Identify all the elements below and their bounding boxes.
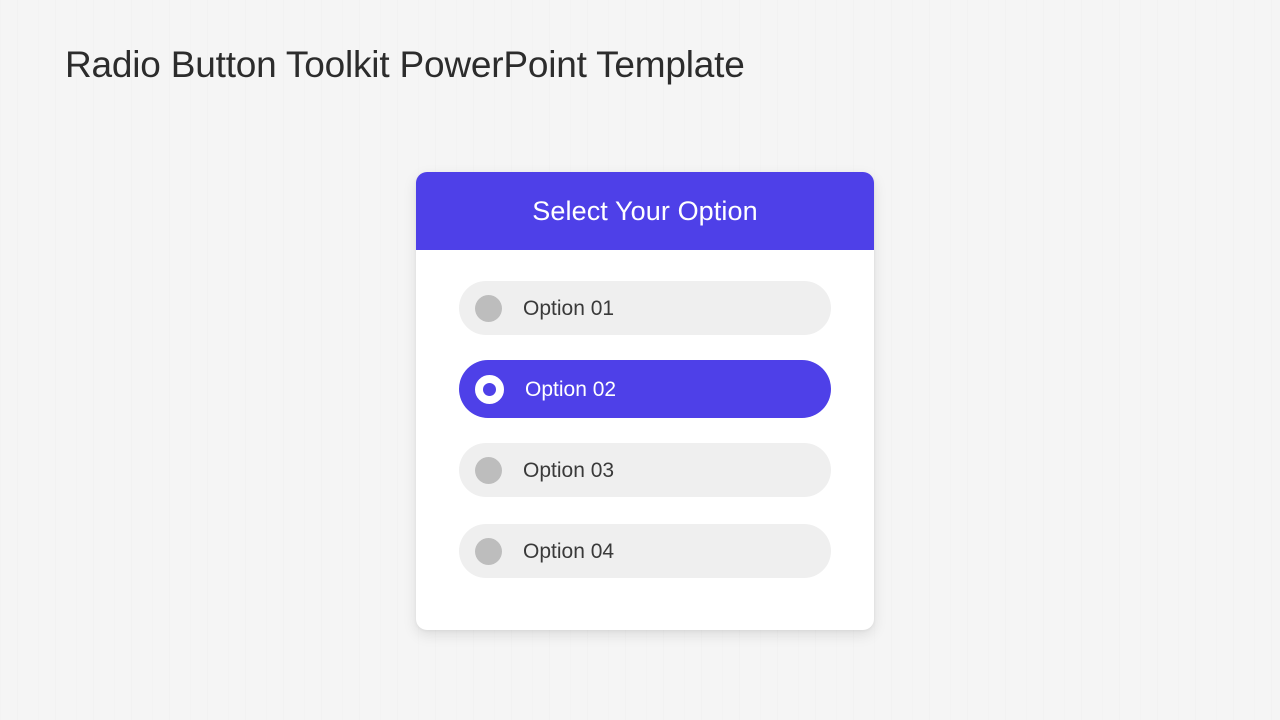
radio-option-label: Option 01 xyxy=(523,298,614,319)
slide-canvas: Radio Button Toolkit PowerPoint Template… xyxy=(0,0,1280,720)
card-header: Select Your Option xyxy=(416,172,874,250)
radio-circle-icon[interactable] xyxy=(475,457,502,484)
radio-option-1[interactable]: Option 01 xyxy=(459,281,831,335)
radio-selected-icon[interactable] xyxy=(475,375,504,404)
radio-option-label: Option 04 xyxy=(523,541,614,562)
radio-options-group: Option 01 Option 02 Option 03 Option 04 xyxy=(416,250,874,578)
radio-option-label: Option 03 xyxy=(523,460,614,481)
radio-circle-icon[interactable] xyxy=(475,295,502,322)
page-title: Radio Button Toolkit PowerPoint Template xyxy=(65,42,745,88)
card-header-title: Select Your Option xyxy=(532,198,757,225)
radio-option-2[interactable]: Option 02 xyxy=(459,360,831,418)
radio-option-4[interactable]: Option 04 xyxy=(459,524,831,578)
radio-option-label: Option 02 xyxy=(525,379,616,400)
radio-circle-icon[interactable] xyxy=(475,538,502,565)
radio-button-card: Select Your Option Option 01 Option 02 O… xyxy=(416,172,874,630)
radio-option-3[interactable]: Option 03 xyxy=(459,443,831,497)
